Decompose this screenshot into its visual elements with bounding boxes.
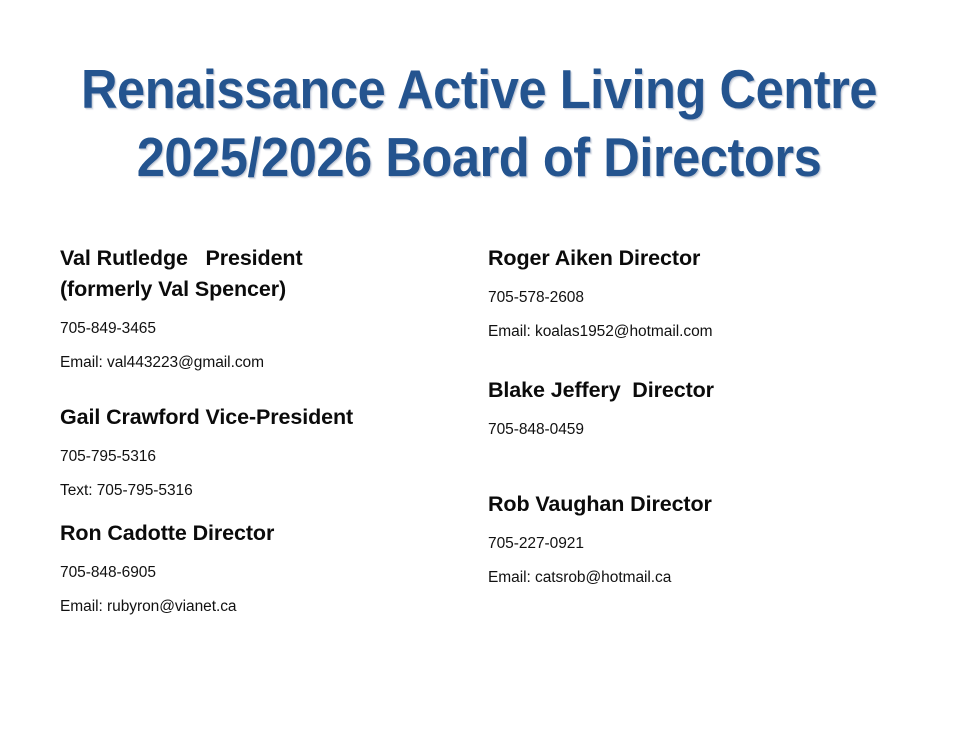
- title-line-term: 2025/2026 Board of Directors: [38, 124, 919, 190]
- title-line-organization: Renaissance Active Living Centre: [38, 56, 919, 122]
- member-entry-ron-cadotte: Ron Cadotte Director 705-848-6905 Email:…: [60, 518, 480, 618]
- member-name-ron-cadotte: Ron Cadotte Director: [60, 518, 480, 548]
- member-entry-gail-crawford: Gail Crawford Vice-President 705-795-531…: [60, 402, 480, 502]
- members-column-left: Val Rutledge President (formerly Val Spe…: [60, 243, 480, 624]
- member-phone-val-rutledge: 705-849-3465: [60, 318, 480, 340]
- member-phone-blake-jeffery: 705-848-0459: [488, 419, 908, 441]
- member-phone-rob-vaughan: 705-227-0921: [488, 533, 908, 555]
- member-entry-val-rutledge: Val Rutledge President (formerly Val Spe…: [60, 243, 480, 374]
- slide-title: Renaissance Active Living Centre 2025/20…: [0, 56, 958, 190]
- members-column-right: Roger Aiken Director 705-578-2608 Email:…: [488, 243, 908, 595]
- member-former-name-val-rutledge: (formerly Val Spencer): [60, 274, 480, 304]
- member-name-blake-jeffery: Blake Jeffery Director: [488, 375, 908, 405]
- member-email-val-rutledge: Email: val443223@gmail.com: [60, 352, 480, 374]
- members-columns: Val Rutledge President (formerly Val Spe…: [0, 243, 958, 673]
- member-name-rob-vaughan: Rob Vaughan Director: [488, 489, 908, 519]
- member-email-roger-aiken: Email: koalas1952@hotmail.com: [488, 321, 908, 343]
- member-name-gail-crawford: Gail Crawford Vice-President: [60, 402, 480, 432]
- member-entry-rob-vaughan: Rob Vaughan Director 705-227-0921 Email:…: [488, 489, 908, 589]
- member-phone-ron-cadotte: 705-848-6905: [60, 562, 480, 584]
- member-email-rob-vaughan: Email: catsrob@hotmail.ca: [488, 567, 908, 589]
- member-phone-gail-crawford: 705-795-5316: [60, 446, 480, 468]
- board-of-directors-slide: Renaissance Active Living Centre 2025/20…: [0, 0, 958, 741]
- member-phone-roger-aiken: 705-578-2608: [488, 287, 908, 309]
- member-entry-roger-aiken: Roger Aiken Director 705-578-2608 Email:…: [488, 243, 908, 343]
- member-entry-blake-jeffery: Blake Jeffery Director 705-848-0459: [488, 375, 908, 441]
- member-name-roger-aiken: Roger Aiken Director: [488, 243, 908, 273]
- member-name-val-rutledge: Val Rutledge President: [60, 243, 480, 273]
- member-text-gail-crawford: Text: 705-795-5316: [60, 480, 480, 502]
- member-email-ron-cadotte: Email: rubyron@vianet.ca: [60, 596, 480, 618]
